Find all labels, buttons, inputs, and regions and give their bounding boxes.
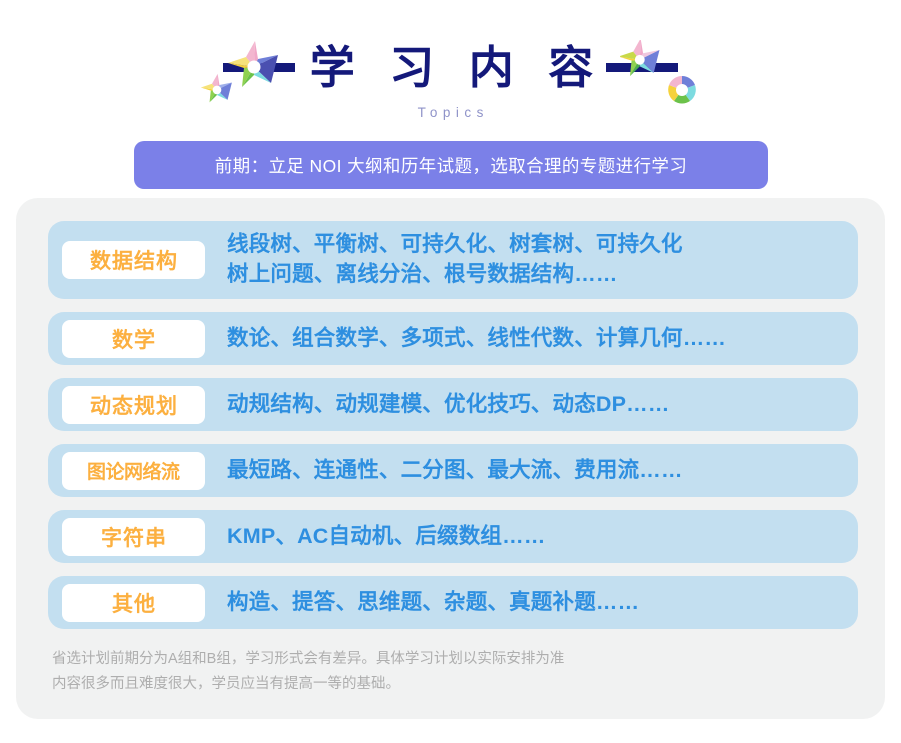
- topic-row[interactable]: 动态规划 动规结构、动规建模、优化技巧、动态DP……: [48, 378, 858, 431]
- topic-label-pill: 其他: [62, 584, 205, 622]
- title-rule-right: [606, 63, 678, 72]
- topics-list: 数据结构 线段树、平衡树、可持久化、树套树、可持久化 树上问题、离线分治、根号数…: [48, 221, 858, 642]
- title-row: 学 习 内 容: [0, 33, 901, 101]
- page-title: 学 习 内 容: [299, 45, 605, 90]
- topic-label-pill: 数学: [62, 320, 205, 358]
- topic-label-pill: 动态规划: [62, 386, 205, 424]
- title-rule-left: [223, 63, 295, 72]
- topic-row[interactable]: 图论网络流 最短路、连通性、二分图、最大流、费用流……: [48, 444, 858, 497]
- topic-label-pill: 数据结构: [62, 241, 205, 279]
- topic-row[interactable]: 数据结构 线段树、平衡树、可持久化、树套树、可持久化 树上问题、离线分治、根号数…: [48, 221, 858, 299]
- footer-note: 省选计划前期分为A组和B组，学习形式会有差异。具体学习计划以实际安排为准 内容很…: [52, 647, 812, 697]
- topic-row[interactable]: 字符串 KMP、AC自动机、后缀数组……: [48, 510, 858, 563]
- topic-content: 最短路、连通性、二分图、最大流、费用流……: [227, 456, 683, 486]
- topic-content: 构造、提答、思维题、杂题、真题补题……: [227, 588, 639, 618]
- stage-banner: 前期：立足 NOI 大纲和历年试题，选取合理的专题进行学习: [134, 141, 768, 189]
- topic-row[interactable]: 数学 数论、组合数学、多项式、线性代数、计算几何……: [48, 312, 858, 365]
- topic-content: 动规结构、动规建模、优化技巧、动态DP……: [227, 390, 670, 420]
- page-subtitle: Topics: [0, 105, 901, 120]
- topic-content: 线段树、平衡树、可持久化、树套树、可持久化 树上问题、离线分治、根号数据结构……: [227, 230, 683, 289]
- topic-label-pill: 字符串: [62, 518, 205, 556]
- topic-content: 数论、组合数学、多项式、线性代数、计算几何……: [227, 324, 726, 354]
- page-header: 学 习 内 容: [0, 0, 901, 132]
- topic-row[interactable]: 其他 构造、提答、思维题、杂题、真题补题……: [48, 576, 858, 629]
- topic-label-pill: 图论网络流: [62, 452, 205, 490]
- topic-content: KMP、AC自动机、后缀数组……: [227, 522, 546, 552]
